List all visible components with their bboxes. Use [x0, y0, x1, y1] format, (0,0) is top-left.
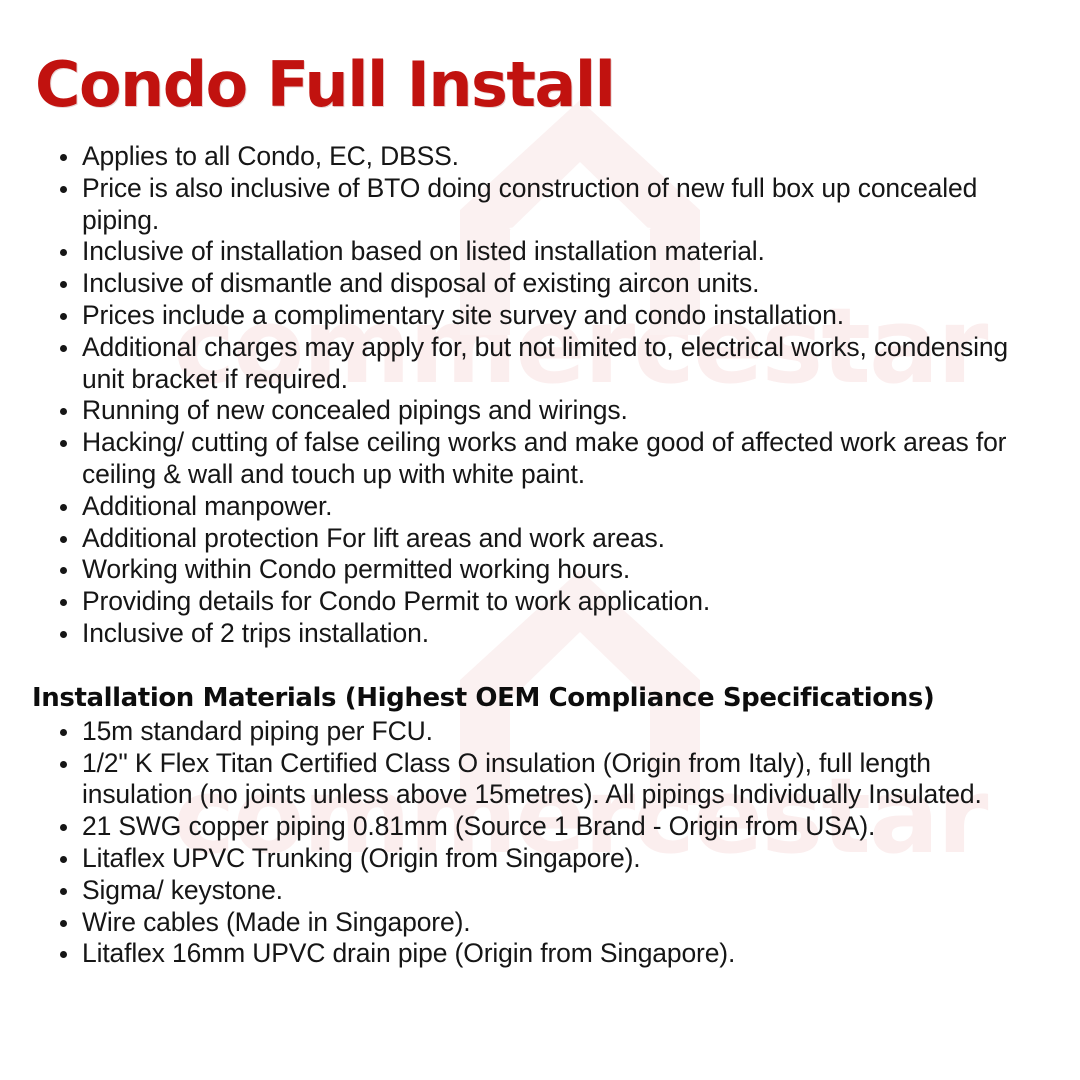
list-item: Providing details for Condo Permit to wo…	[32, 586, 1040, 618]
list-item: Sigma/ keystone.	[32, 875, 1040, 907]
list-item: Inclusive of dismantle and disposal of e…	[32, 268, 1040, 300]
list-item: Additional protection For lift areas and…	[32, 523, 1040, 555]
list-item: 1/2" K Flex Titan Certified Class O insu…	[32, 748, 1040, 812]
list-item: Additional charges may apply for, but no…	[32, 332, 1040, 396]
materials-heading: Installation Materials (Highest OEM Comp…	[32, 683, 1040, 714]
page-title: Condo Full Install	[35, 52, 1040, 119]
list-item: Running of new concealed pipings and wir…	[32, 395, 1040, 427]
list-item: Litaflex UPVC Trunking (Origin from Sing…	[32, 843, 1040, 875]
document-page: commercestar commercestar Condo Full Ins…	[0, 0, 1080, 1080]
list-item: Litaflex 16mm UPVC drain pipe (Origin fr…	[32, 938, 1040, 970]
list-item: Inclusive of installation based on liste…	[32, 236, 1040, 268]
scope-list: Applies to all Condo, EC, DBSS.Price is …	[32, 141, 1040, 650]
list-item: 21 SWG copper piping 0.81mm (Source 1 Br…	[32, 811, 1040, 843]
materials-list: 15m standard piping per FCU.1/2" K Flex …	[32, 716, 1040, 970]
list-item: Price is also inclusive of BTO doing con…	[32, 173, 1040, 237]
list-item: Additional manpower.	[32, 491, 1040, 523]
list-item: Inclusive of 2 trips installation.	[32, 618, 1040, 650]
list-item: Working within Condo permitted working h…	[32, 554, 1040, 586]
list-item: Prices include a complimentary site surv…	[32, 300, 1040, 332]
list-item: 15m standard piping per FCU.	[32, 716, 1040, 748]
document-content: Condo Full Install Applies to all Condo,…	[0, 0, 1080, 970]
list-item: Applies to all Condo, EC, DBSS.	[32, 141, 1040, 173]
list-item: Hacking/ cutting of false ceiling works …	[32, 427, 1040, 491]
list-item: Wire cables (Made in Singapore).	[32, 907, 1040, 939]
